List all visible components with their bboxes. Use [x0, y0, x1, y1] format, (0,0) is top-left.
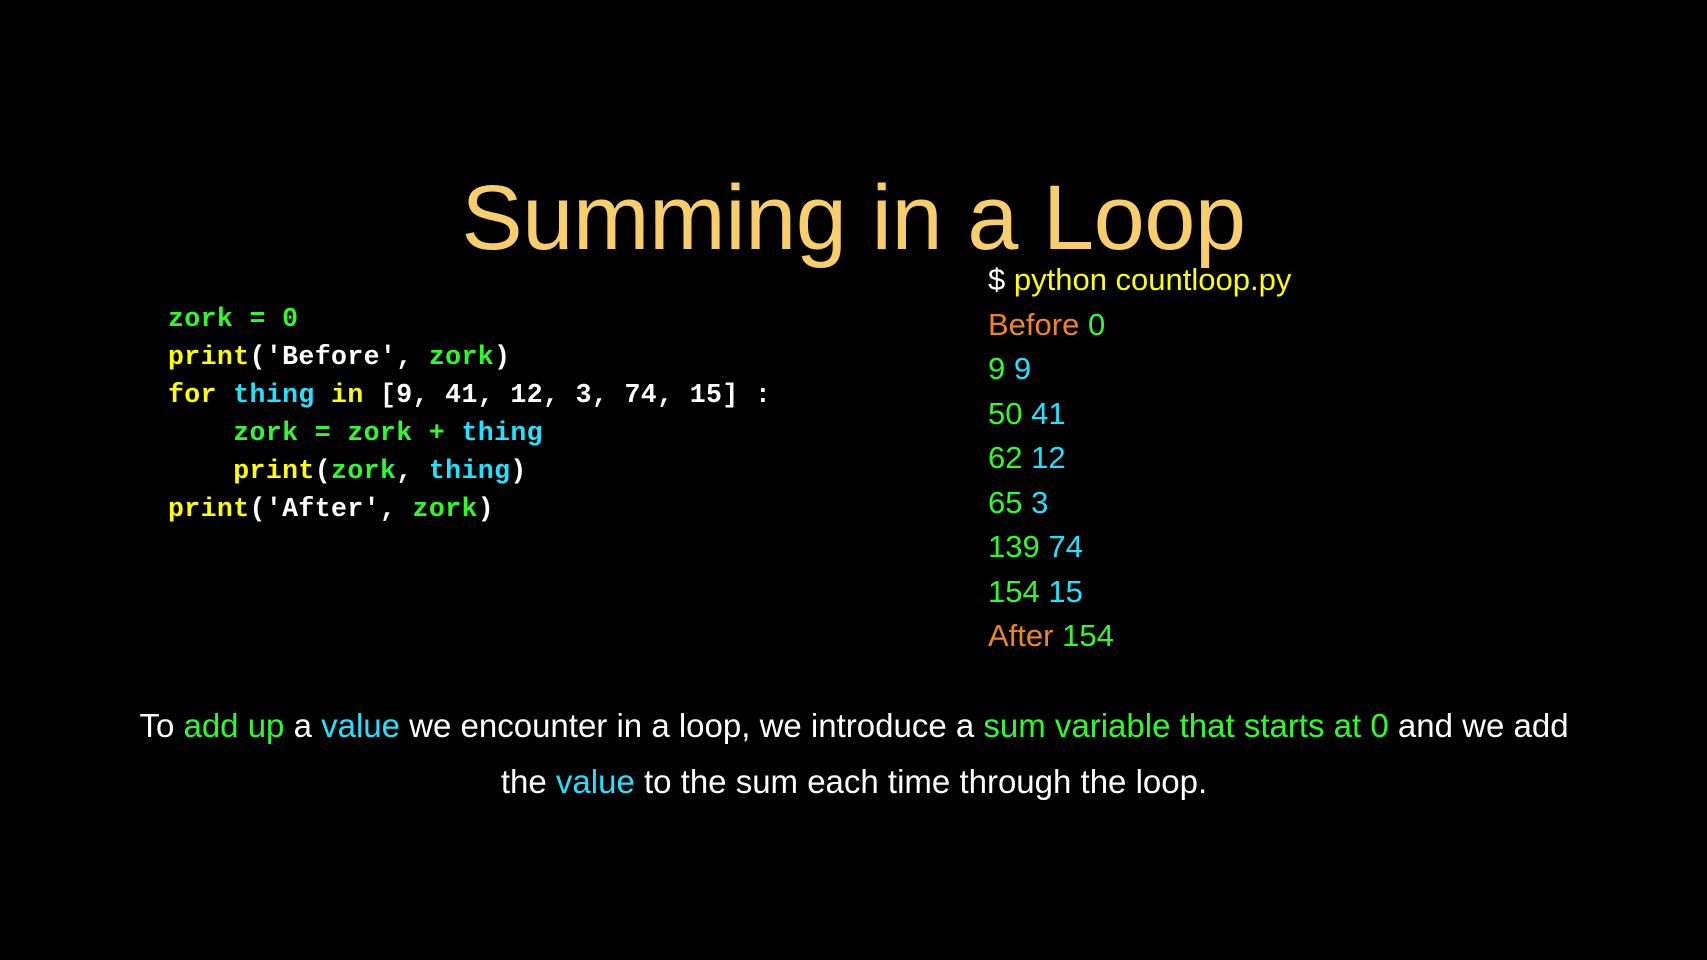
code-line-1: zork = 0 [168, 300, 771, 338]
token-green: zork = 0 [168, 304, 298, 334]
token-green: 9 [988, 351, 1014, 386]
token-white: $ [988, 262, 1014, 297]
token-white: ) [478, 494, 494, 524]
token-green: 50 [988, 396, 1031, 431]
token-white: ('Before', [250, 342, 429, 372]
python-code-block: zork = 0print('Before', zork)for thing i… [168, 300, 771, 528]
terminal-output: $ python countloop.pyBefore 09 950 4162 … [988, 258, 1291, 659]
token-white: ( [315, 456, 331, 486]
token-yellow: for [168, 380, 233, 410]
code-line-5: print(zork, thing) [168, 452, 771, 490]
token-green: zork [429, 342, 494, 372]
token-orange: Before [988, 307, 1088, 342]
caption-token-white: to the sum each time through the loop. [635, 763, 1207, 800]
token-green: 139 [988, 529, 1048, 564]
token-white: ) [494, 342, 510, 372]
token-yellow: print [168, 494, 250, 524]
token-cyan: thing [429, 456, 511, 486]
token-yellow: print [233, 456, 315, 486]
page-title: Summing in a Loop [0, 170, 1707, 267]
token-yellow: print [168, 342, 250, 372]
term-line-before: Before 0 [988, 303, 1291, 348]
token-green: 65 [988, 485, 1031, 520]
token-cyan: thing [461, 418, 543, 448]
token-yellow: in [331, 380, 380, 410]
token-cyan: 9 [1014, 351, 1031, 386]
token-green: 0 [1088, 307, 1105, 342]
term-line-after: After 154 [988, 614, 1291, 659]
term-line-iter-2: 50 41 [988, 392, 1291, 437]
term-line-iter-5: 139 74 [988, 525, 1291, 570]
token-green: 62 [988, 440, 1031, 475]
token-white: ('After', [250, 494, 413, 524]
term-line-iter-6: 154 15 [988, 570, 1291, 615]
token-white: , [396, 456, 429, 486]
token-cyan: 12 [1031, 440, 1065, 475]
caption-token-cyan: value [321, 707, 400, 744]
token-green: zork = zork + [168, 418, 461, 448]
caption-token-white: we encounter in a loop, we introduce a [400, 707, 983, 744]
token-cyan: 3 [1031, 485, 1048, 520]
term-line-iter-4: 65 3 [988, 481, 1291, 526]
token-green: 154 [988, 574, 1048, 609]
caption-token-cyan: value [556, 763, 635, 800]
code-line-4: zork = zork + thing [168, 414, 771, 452]
token-white [168, 456, 233, 486]
token-white: [9, 41, 12, 3, 74, 15] : [380, 380, 771, 410]
caption-token-white: a [284, 707, 321, 744]
token-orange: After [988, 618, 1062, 653]
token-cyan: thing [233, 380, 331, 410]
term-line-iter-3: 62 12 [988, 436, 1291, 481]
caption-token-green: add up [183, 707, 284, 744]
token-green: zork [331, 456, 396, 486]
explanation-caption: To add up a value we encounter in a loop… [138, 698, 1570, 810]
caption-token-white: To [139, 707, 183, 744]
code-line-3: for thing in [9, 41, 12, 3, 74, 15] : [168, 376, 771, 414]
term-line-command: $ python countloop.py [988, 258, 1291, 303]
slide-canvas: Summing in a Loop zork = 0print('Before'… [0, 0, 1707, 960]
token-cyan: 74 [1048, 529, 1082, 564]
token-yellow: python countloop.py [1014, 262, 1292, 297]
code-line-2: print('Before', zork) [168, 338, 771, 376]
token-green: zork [413, 494, 478, 524]
token-white: ) [510, 456, 526, 486]
code-line-6: print('After', zork) [168, 490, 771, 528]
token-green: 154 [1062, 618, 1114, 653]
token-cyan: 41 [1031, 396, 1065, 431]
caption-token-green: sum variable that starts at 0 [983, 707, 1388, 744]
token-cyan: 15 [1048, 574, 1082, 609]
term-line-iter-1: 9 9 [988, 347, 1291, 392]
